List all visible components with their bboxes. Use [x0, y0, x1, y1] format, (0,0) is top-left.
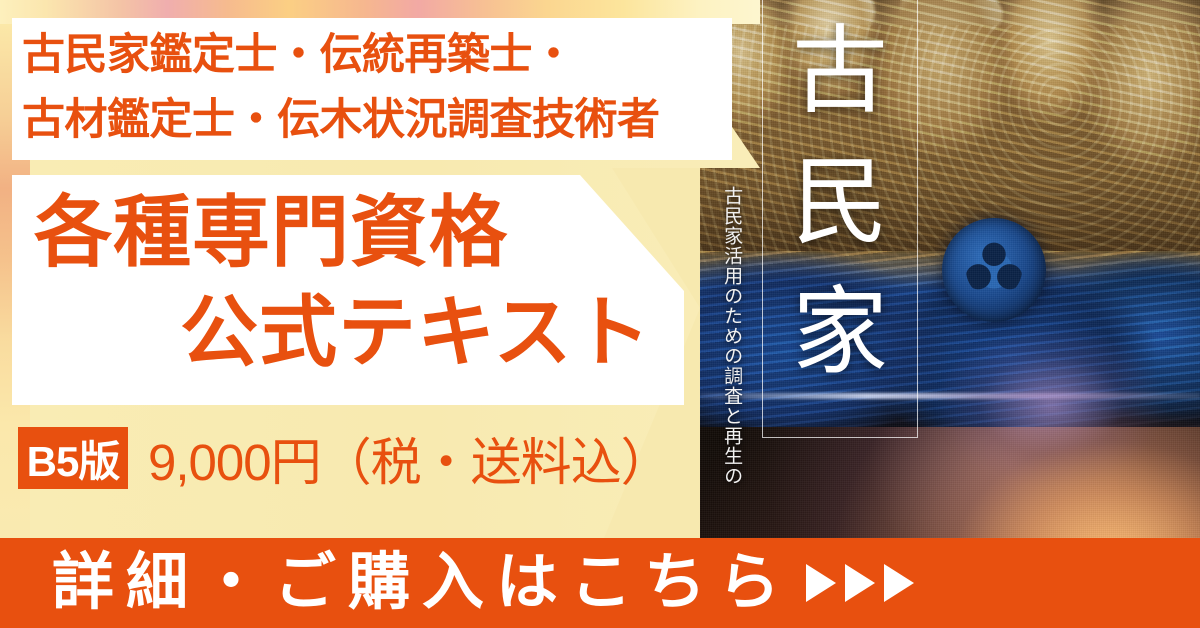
headline-line-2: 公式テキスト [28, 283, 688, 383]
qualifications-text: 古民家鑑定士・伝統再築士・ 古材鑑定士・伝木状況調査技術者 [22, 23, 738, 154]
cover-subtitle-primary: 古民家活用のための調査と再生の [722, 186, 742, 486]
book-cover-photo: 古 民 家 古民家活用のための調査と再生の 伝統構法 [700, 0, 1200, 628]
headline-box: 各種専門資格 公式テキスト [12, 175, 684, 405]
page-title: 各種専門資格 公式テキスト [28, 183, 688, 383]
headline-line-1: 各種専門資格 [28, 183, 688, 283]
cta-arrows [806, 564, 914, 602]
qualifications-box: 古民家鑑定士・伝統再築士・ 古材鑑定士・伝木状況調査技術者 [12, 18, 732, 160]
cta-bar[interactable]: 詳細・ご購入はこちら [0, 538, 1200, 628]
cover-title-char-1: 古 [774, 6, 906, 137]
promo-banner[interactable]: 古 民 家 古民家活用のための調査と再生の 伝統構法 古民家鑑定士・伝統再築士・… [0, 0, 1200, 628]
cta-label: 詳細・ご購入はこちら [52, 552, 792, 614]
price-amount: 9,000円（税・送料込） [148, 421, 671, 495]
qualifications-line-1: 古民家鑑定士・伝統再築士・ [22, 23, 738, 88]
play-triangle-icon-1 [806, 564, 836, 602]
format-badge: B5版 [18, 427, 128, 489]
cover-title-char-3: 家 [774, 267, 906, 398]
cover-title: 古 民 家 [774, 6, 906, 398]
cover-title-char-2: 民 [774, 137, 906, 268]
price-row: B5版 9,000円（税・送料込） [18, 426, 671, 490]
play-triangle-icon-3 [884, 564, 914, 602]
play-triangle-icon-2 [845, 564, 875, 602]
qualifications-line-2: 古材鑑定士・伝木状況調査技術者 [22, 88, 738, 153]
